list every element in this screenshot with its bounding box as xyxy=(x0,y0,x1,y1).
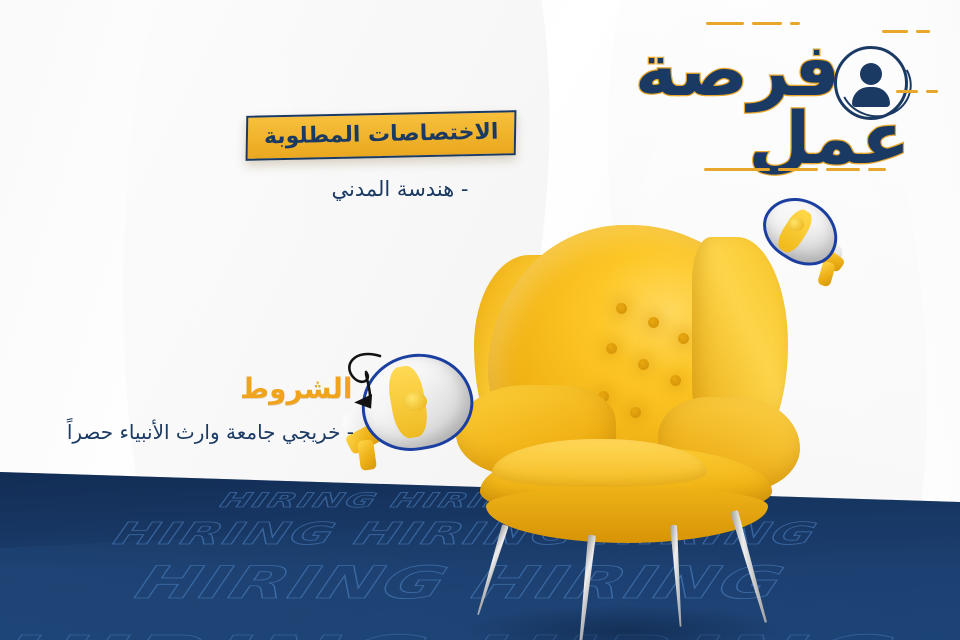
megaphone-center-dot xyxy=(788,218,804,231)
headline-dash-row-right xyxy=(882,30,930,33)
chair-tuft-button xyxy=(616,303,627,314)
headline-dash-row-mid xyxy=(896,90,938,93)
megaphone-icon xyxy=(760,196,860,292)
specializations-banner-label: الاختصاصات المطلوبة xyxy=(264,120,499,150)
person-icon-head xyxy=(860,63,882,85)
headline-block: فرصة عمل xyxy=(586,16,916,186)
curved-arrow-icon xyxy=(336,352,388,412)
chair-base xyxy=(486,487,768,543)
specializations-banner: الاختصاصات المطلوبة xyxy=(246,110,517,161)
chair-tuft-button xyxy=(678,333,689,344)
headline-dash-row-top xyxy=(706,22,800,25)
chair-tuft-button xyxy=(648,317,659,328)
chair-tuft-button xyxy=(638,359,649,370)
job-opportunity-poster: HIRING HIRING HIRING HIRING HIRING HIRIN… xyxy=(0,0,960,640)
specialization-item: - هندسة المدني xyxy=(305,177,495,201)
person-in-circle-icon xyxy=(834,46,908,120)
chair-tuft-button xyxy=(670,375,681,386)
megaphone-center-dot xyxy=(403,392,427,411)
megaphone-grip xyxy=(817,261,836,288)
condition-item: - خريجي جامعة وارث الأنبياء حصراً xyxy=(24,420,354,444)
chair-tuft-button xyxy=(606,343,617,354)
chair-tuft-button xyxy=(630,407,641,418)
headline-dash-row-bottom xyxy=(704,168,886,171)
